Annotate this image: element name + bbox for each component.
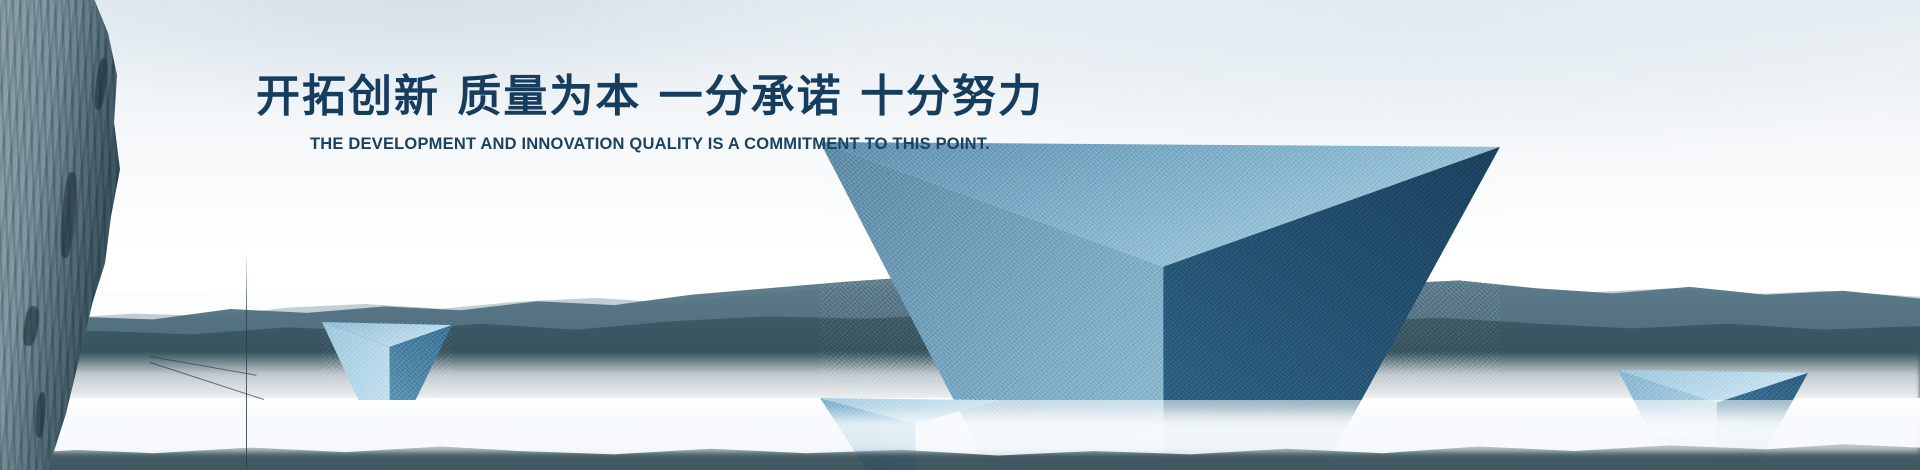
rope-line-vertical xyxy=(246,252,247,470)
banner-headline: 开拓创新 质量为本 一分承诺 十分努力 xyxy=(0,72,1300,123)
shoreline-mist xyxy=(0,406,1920,452)
banner-subtitle: THE DEVELOPMENT AND INNOVATION QUALITY I… xyxy=(0,135,1300,154)
pyramid-grain-texture xyxy=(322,322,452,400)
hero-banner: 开拓创新 质量为本 一分承诺 十分努力 THE DEVELOPMENT AND … xyxy=(0,0,1920,470)
pyramid-small-left xyxy=(322,322,452,400)
banner-text-block: 开拓创新 质量为本 一分承诺 十分努力 THE DEVELOPMENT AND … xyxy=(0,72,1300,154)
